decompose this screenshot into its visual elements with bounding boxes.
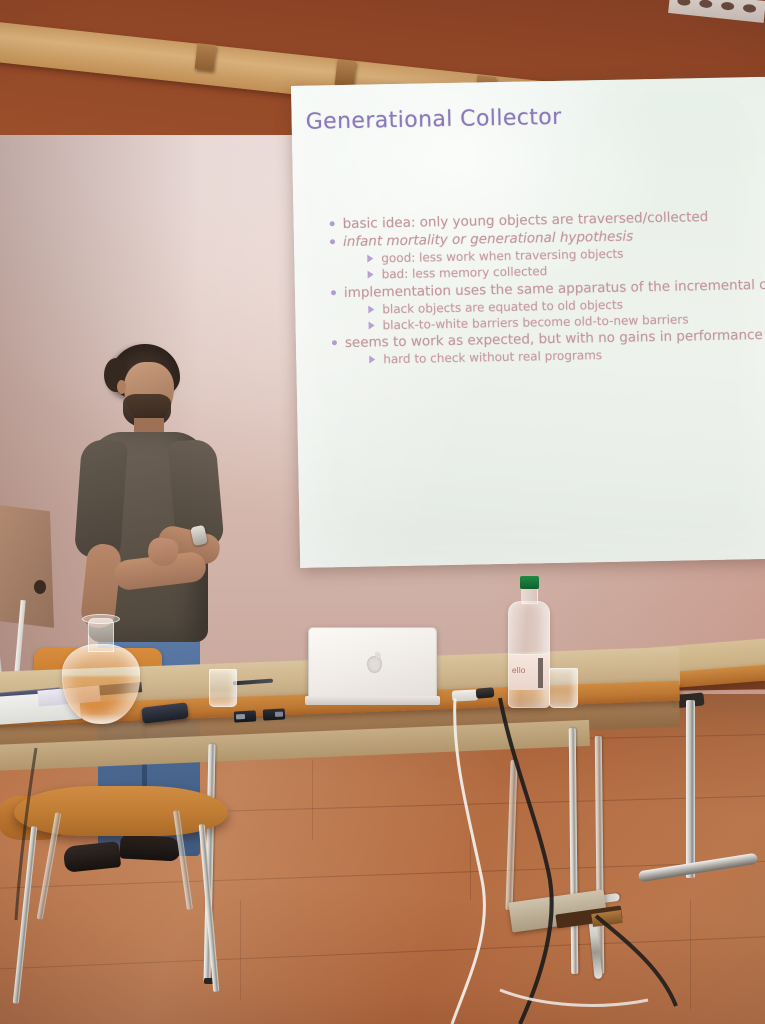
bullet-dot-icon — [330, 221, 335, 226]
usb-dongle — [234, 710, 257, 722]
apple-logo-icon — [367, 656, 382, 673]
presenter-ear — [117, 380, 126, 394]
presenter-shoe-left — [63, 841, 121, 873]
bottle-label-text: ello — [512, 666, 526, 675]
bullet-dot-icon — [331, 290, 336, 295]
slide-title: Generational Collector — [305, 105, 561, 135]
beam-peg — [335, 59, 357, 87]
bullet-dot-icon — [332, 340, 337, 345]
floor-plank-seam — [690, 900, 691, 1010]
laptop-lid — [308, 627, 437, 699]
drinking-glass — [209, 669, 237, 707]
water-bottle: ello — [506, 576, 552, 708]
easel-knob — [34, 580, 46, 594]
carafe-lip — [82, 614, 120, 624]
flipchart-pad — [0, 504, 54, 628]
presenter-shoe-right — [119, 834, 180, 861]
bullet-triangle-icon — [367, 254, 373, 262]
bullet-triangle-icon — [368, 270, 374, 278]
bullet-triangle-icon — [369, 321, 375, 329]
floor-plank-seam — [470, 820, 471, 900]
lecture-room-photo: Generational Collector basic idea: only … — [0, 0, 765, 1024]
bottle-neck — [521, 588, 538, 604]
slide-bullet-list: basic idea: only young objects are trave… — [329, 204, 765, 367]
drinking-glass — [549, 668, 578, 708]
presenter-sleeve-left — [74, 439, 128, 560]
projection-screen: Generational Collector basic idea: only … — [291, 77, 765, 568]
side-table-post — [686, 700, 695, 878]
beam-peg — [195, 43, 217, 71]
floor-plank-seam — [312, 760, 313, 840]
usb-dongle — [263, 708, 286, 720]
macbook-laptop — [305, 627, 440, 707]
label-barcode — [538, 658, 543, 688]
bullet-text: hard to check without real programs — [383, 348, 602, 366]
bullet-triangle-icon — [368, 305, 374, 313]
floor-plank-seam — [240, 900, 241, 1000]
bullet-text: bad: less memory collected — [381, 264, 547, 281]
chair-seat — [14, 786, 228, 836]
bottle-cap — [520, 576, 539, 589]
bullet-triangle-icon — [369, 355, 375, 363]
video-adapter — [476, 687, 495, 699]
bullet-dot-icon — [330, 239, 335, 244]
laptop-base — [305, 696, 440, 705]
carafe-body — [62, 644, 140, 724]
water-carafe — [62, 618, 140, 724]
bottle-label: ello — [509, 654, 549, 690]
power-adapter — [452, 689, 479, 701]
